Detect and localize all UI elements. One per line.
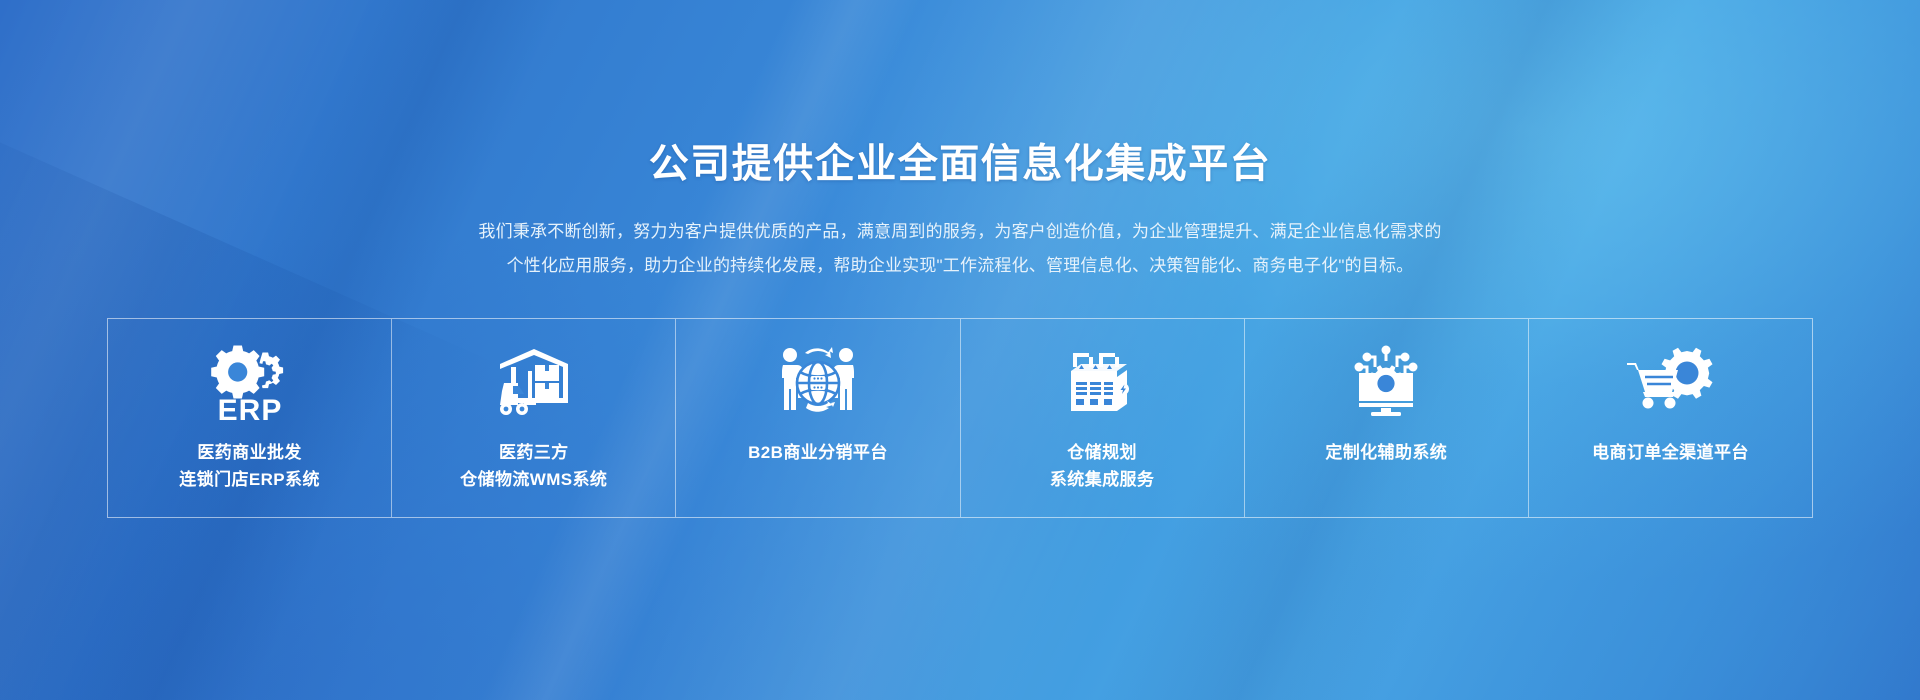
service-card-label: 电商订单全渠道平台 <box>1592 439 1749 466</box>
label-line-1: 仓储规划 <box>1050 439 1154 466</box>
service-card-b2b[interactable]: B2B商业分销平台 <box>676 319 960 517</box>
shopping-cart-gear-icon <box>1625 341 1715 425</box>
label-line-2: 连锁门店ERP系统 <box>179 466 320 493</box>
service-card-wms[interactable]: 医药三方 仓储物流WMS系统 <box>392 319 676 517</box>
forklift-warehouse-icon <box>491 341 577 425</box>
warehouse-racking-icon <box>1059 341 1145 425</box>
label-line-1: 定制化辅助系统 <box>1325 439 1447 466</box>
globe-people-b2b-icon <box>775 341 861 425</box>
service-card-label: 仓储规划 系统集成服务 <box>1050 439 1154 493</box>
monitor-gear-network-icon <box>1343 341 1429 425</box>
service-card-grid: ERP 医药商业批发 连锁门店ERP系统 <box>107 318 1813 518</box>
service-card-label: 医药三方 仓储物流WMS系统 <box>460 439 607 493</box>
banner-description: 我们秉承不断创新，努力为客户提供优质的产品，满意周到的服务，为客户创造价值，为企… <box>370 215 1550 283</box>
service-card-warehouse-planning[interactable]: 仓储规划 系统集成服务 <box>961 319 1245 517</box>
service-card-label: 定制化辅助系统 <box>1325 439 1447 466</box>
description-line-1: 我们秉承不断创新，努力为客户提供优质的产品，满意周到的服务，为客户创造价值，为企… <box>370 215 1550 249</box>
label-line-1: 医药商业批发 <box>179 439 320 466</box>
service-card-custom-system[interactable]: 定制化辅助系统 <box>1245 319 1529 517</box>
label-line-1: 电商订单全渠道平台 <box>1592 439 1749 466</box>
service-card-erp[interactable]: ERP 医药商业批发 连锁门店ERP系统 <box>108 319 392 517</box>
erp-gears-icon: ERP <box>202 341 298 425</box>
label-line-2: 仓储物流WMS系统 <box>460 466 607 493</box>
service-card-ecommerce[interactable]: 电商订单全渠道平台 <box>1529 319 1812 517</box>
banner-content: 公司提供企业全面信息化集成平台 我们秉承不断创新，努力为客户提供优质的产品，满意… <box>0 0 1920 700</box>
page-title: 公司提供企业全面信息化集成平台 <box>0 140 1920 188</box>
description-line-2: 个性化应用服务，助力企业的持续化发展，帮助企业实现"工作流程化、管理信息化、决策… <box>370 249 1550 283</box>
service-card-label: 医药商业批发 连锁门店ERP系统 <box>179 439 320 493</box>
hero-banner: 公司提供企业全面信息化集成平台 我们秉承不断创新，努力为客户提供优质的产品，满意… <box>0 0 1920 700</box>
label-line-1: 医药三方 <box>460 439 607 466</box>
service-card-label: B2B商业分销平台 <box>748 439 888 466</box>
label-line-2: 系统集成服务 <box>1050 466 1154 493</box>
label-line-1: B2B商业分销平台 <box>748 439 888 466</box>
svg-text:ERP: ERP <box>217 394 282 425</box>
